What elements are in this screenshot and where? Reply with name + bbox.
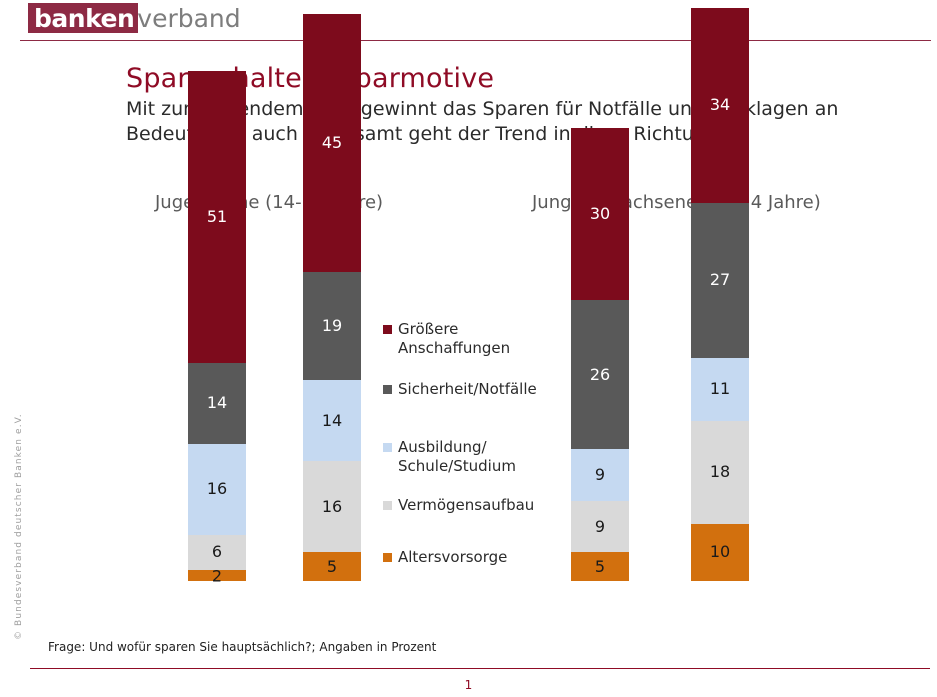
legend-label: Vermögensaufbau <box>398 496 534 515</box>
bar-segment-value: 6 <box>212 544 222 560</box>
legend-swatch-icon <box>383 501 392 510</box>
bar-segment[interactable]: 45 <box>303 14 361 272</box>
bar-segment-value: 2 <box>188 569 246 585</box>
bar-segment-value: 19 <box>322 318 342 334</box>
bar-segment[interactable]: 34 <box>691 8 749 203</box>
legend-label: Größere Anschaffungen <box>398 320 510 358</box>
logo-word-text: verband <box>137 6 240 31</box>
legend-swatch-icon <box>383 553 392 562</box>
legend-item[interactable]: Sicherheit/Notfälle <box>383 380 537 399</box>
bar-segment-value: 16 <box>207 481 227 497</box>
legend-item[interactable]: Vermögensaufbau <box>383 496 534 515</box>
bar-column-erwachsene-2018[interactable]: 3427111810 <box>691 8 749 581</box>
bar-segment[interactable]: 19 <box>303 272 361 381</box>
bar-segment[interactable]: 2 <box>188 570 246 581</box>
bar-column-erwachsene-2015[interactable]: 3026995 <box>571 128 629 581</box>
footer-divider <box>30 668 930 669</box>
bar-segment[interactable]: 26 <box>571 300 629 449</box>
bar-segment-value: 26 <box>590 367 610 383</box>
legend-item[interactable]: Altersvorsorge <box>383 548 507 567</box>
bar-segment-value: 5 <box>595 559 605 575</box>
bar-segment-value: 11 <box>710 381 730 397</box>
bar-segment[interactable]: 10 <box>691 524 749 581</box>
bar-column-jugendliche-2015[interactable]: 51141662 <box>188 71 246 581</box>
legend-item[interactable]: Größere Anschaffungen <box>383 320 510 358</box>
legend-label: Altersvorsorge <box>398 548 507 567</box>
bar-segment[interactable]: 16 <box>303 461 361 553</box>
bar-segment-value: 18 <box>710 464 730 480</box>
bar-segment-value: 45 <box>322 135 342 151</box>
brand-logo: banken verband <box>28 3 241 33</box>
bar-segment[interactable]: 30 <box>571 128 629 300</box>
bar-segment[interactable]: 51 <box>188 71 246 363</box>
bar-segment-value: 27 <box>710 272 730 288</box>
bar-segment-value: 30 <box>590 206 610 222</box>
bar-segment[interactable]: 5 <box>303 552 361 581</box>
header-divider <box>20 40 931 41</box>
bar-segment[interactable]: 6 <box>188 535 246 569</box>
bar-segment-value: 14 <box>207 395 227 411</box>
bar-column-jugendliche-2018[interactable]: 451914165 <box>303 14 361 581</box>
legend-swatch-icon <box>383 443 392 452</box>
legend-label: Sicherheit/Notfälle <box>398 380 537 399</box>
bar-segment[interactable]: 9 <box>571 501 629 553</box>
page-number: 1 <box>0 678 937 692</box>
legend-swatch-icon <box>383 385 392 394</box>
bar-segment[interactable]: 11 <box>691 358 749 421</box>
source-note: Frage: Und wofür sparen Sie hauptsächlic… <box>48 640 436 654</box>
logo-mark-text: banken <box>34 6 134 31</box>
bar-segment[interactable]: 5 <box>571 552 629 581</box>
bar-segment-value: 5 <box>327 559 337 575</box>
bar-segment-value: 34 <box>710 97 730 113</box>
bar-segment-value: 10 <box>710 544 730 560</box>
bar-segment[interactable]: 18 <box>691 421 749 524</box>
legend-item[interactable]: Ausbildung/ Schule/Studium <box>383 438 516 476</box>
bar-segment[interactable]: 16 <box>188 444 246 536</box>
page-subtitle: Mit zunehmendem Alter gewinnt das Sparen… <box>126 97 926 147</box>
bar-segment-value: 16 <box>322 499 342 515</box>
logo-mark-box: banken <box>28 3 138 33</box>
bar-segment-value: 9 <box>595 519 605 535</box>
legend-swatch-icon <box>383 325 392 334</box>
bar-segment-value: 9 <box>595 467 605 483</box>
bar-segment-value: 14 <box>322 413 342 429</box>
bar-segment-value: 51 <box>207 209 227 225</box>
bar-segment[interactable]: 14 <box>188 363 246 443</box>
copyright-notice: © Bundesverband deutscher Banken e.V. <box>14 430 24 640</box>
bar-segment[interactable]: 9 <box>571 449 629 501</box>
bar-segment[interactable]: 27 <box>691 203 749 358</box>
bar-segment[interactable]: 14 <box>303 380 361 460</box>
legend-label: Ausbildung/ Schule/Studium <box>398 438 516 476</box>
